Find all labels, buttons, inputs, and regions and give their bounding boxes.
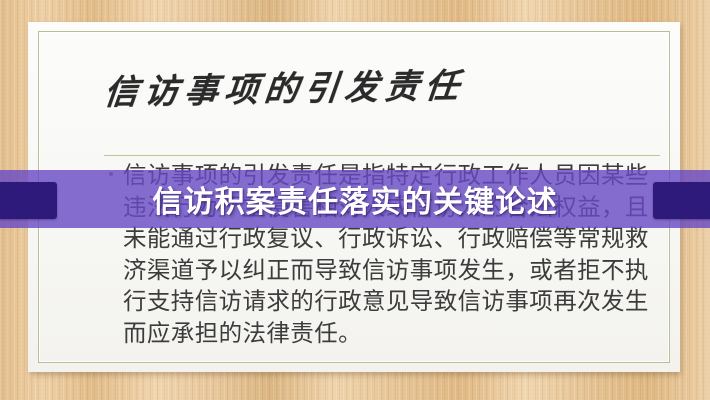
slide-title: 信访事项的引发责任 [102, 67, 467, 114]
body-line-5: 行支持信访请求的行政意见导致信访事项再次发生 [123, 287, 663, 319]
body-line-3: 未能通过行政复议、行政诉讼、行政赔偿等常规救 [123, 224, 663, 256]
body-line-4: 济渠道予以纠正而导致信访事项发生，或者拒不执 [123, 256, 663, 288]
slide-stage: 信访事项的引发责任 信访事项的引发责任是指特定行政工作人员因某些 违法行为严重侵… [0, 0, 710, 400]
overlay-headline: 信访积案责任落实的关键论述 [0, 170, 710, 228]
title-divider [104, 155, 660, 156]
body-line-6: 而应承担的法律责任。 [123, 319, 663, 351]
